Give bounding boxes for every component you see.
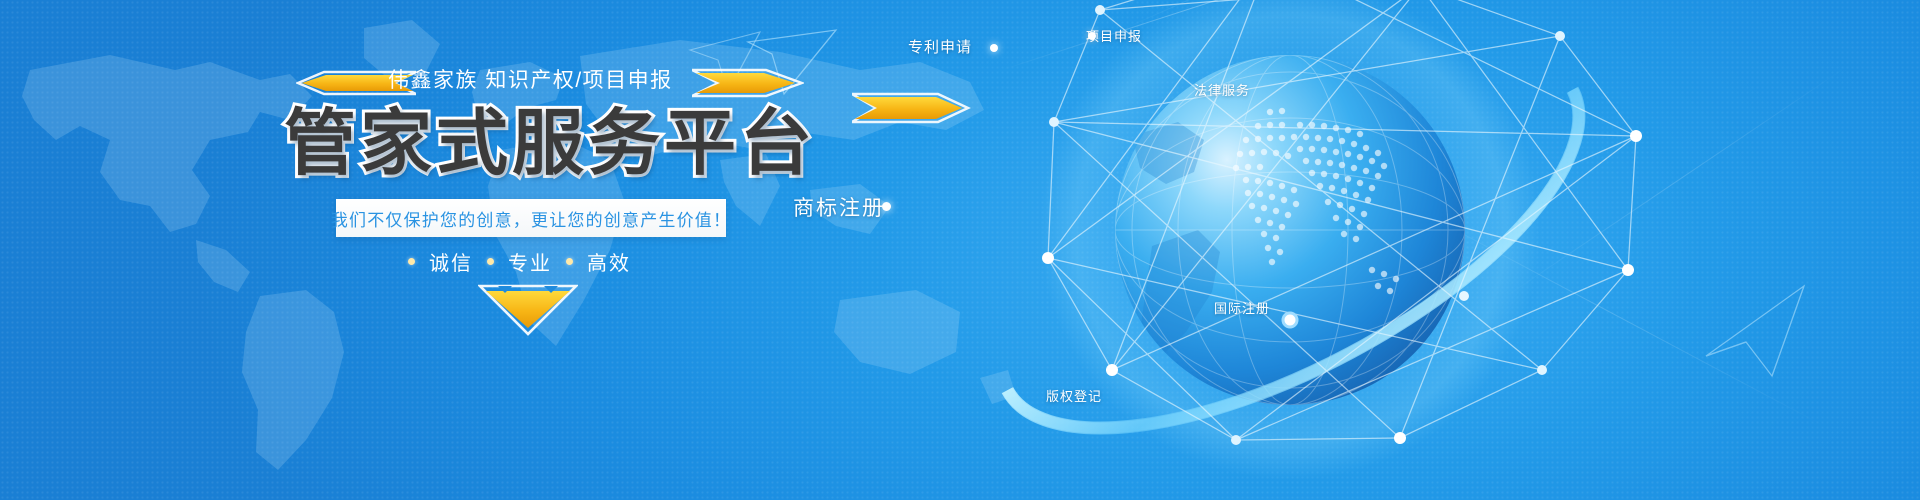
- feature-item-professional: 专业: [508, 247, 552, 276]
- label-trademark-registration: 商标注册: [793, 192, 885, 222]
- node-dot-2: [990, 44, 998, 52]
- node-dot-3: [882, 202, 891, 211]
- headline-block: 伟鑫家族 知识产权/项目申报 管家式服务平台 我们不仅保护您的创意，更让您的创意…: [288, 62, 788, 362]
- feature-list: 诚信 专业 高效: [408, 247, 631, 276]
- label-copyright-registration: 版权登记: [1046, 386, 1102, 405]
- chevron-right-icon-small: [692, 68, 804, 98]
- eyebrow-row: 伟鑫家族 知识产权/项目申报: [288, 62, 788, 102]
- tagline-text: 我们不仅保护您的创意，更让您的创意产生价值！: [331, 206, 731, 231]
- bullet-dot-icon: [408, 258, 415, 265]
- label-patent-application: 专利申请: [908, 36, 972, 57]
- page-title: 管家式服务平台: [284, 104, 816, 184]
- tagline-box: 我们不仅保护您的创意，更让您的创意产生价值！: [336, 199, 726, 237]
- bullet-dot-icon: [566, 258, 573, 265]
- chevron-right-icon: [852, 90, 972, 124]
- feature-item-efficient: 高效: [587, 247, 631, 276]
- feature-item-integrity: 诚信: [429, 247, 473, 276]
- promo-banner: 项目申报 专利申请 法律服务 商标注册 国际注册 版权登记: [0, 0, 1920, 500]
- node-dot-1: [1088, 32, 1096, 40]
- network-globe-graphic: [800, 0, 1920, 500]
- label-international-registration: 国际注册: [1214, 298, 1270, 317]
- paper-plane-icon-2: [1700, 280, 1840, 390]
- bullet-dot-icon: [487, 258, 494, 265]
- triangle-down-icon: [478, 284, 578, 336]
- label-legal-service: 法律服务: [1194, 80, 1250, 99]
- eyebrow-text: 伟鑫家族 知识产权/项目申报: [388, 64, 673, 94]
